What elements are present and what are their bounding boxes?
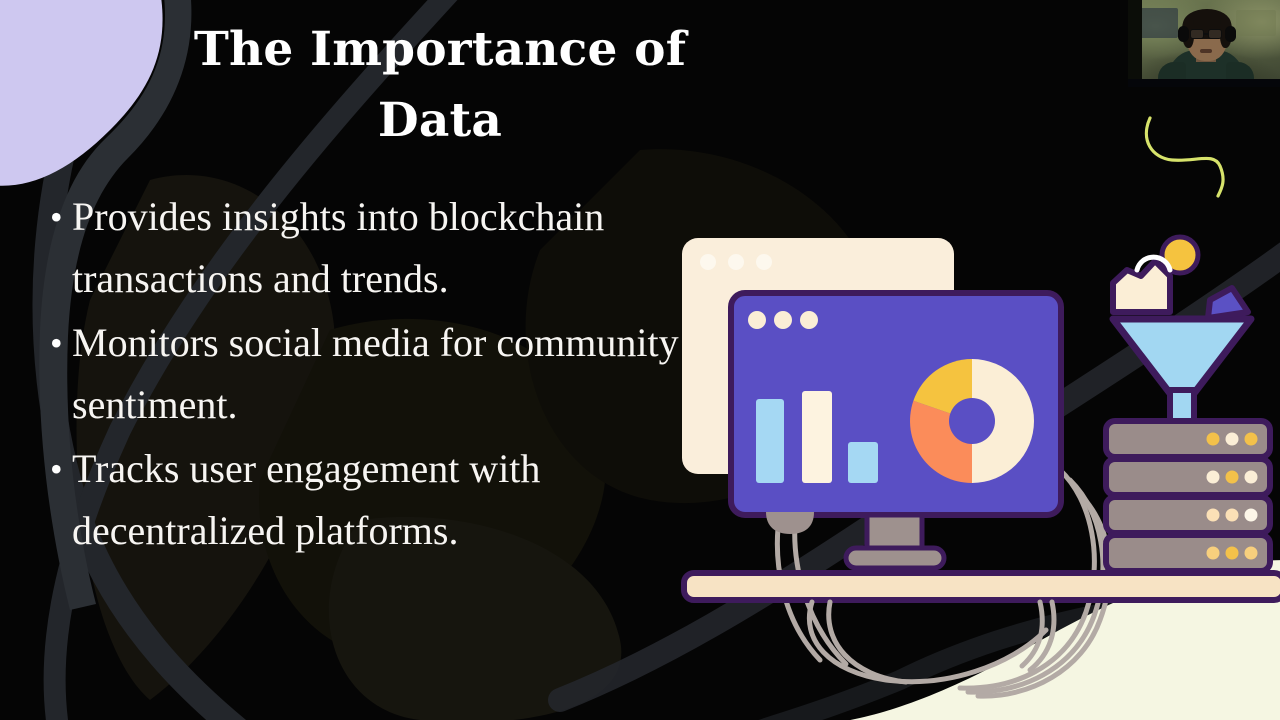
- bullet-text: Monitors social media for community sent…: [72, 312, 736, 436]
- monitor-stand: [766, 512, 944, 568]
- server-unit: [1106, 535, 1270, 571]
- title-line-1: The Importance of: [150, 14, 730, 85]
- cables-below-table: [809, 602, 1054, 682]
- cream-wave: [800, 608, 1280, 720]
- glasses-bridge-icon: [1204, 33, 1208, 35]
- bullet-marker-icon: •: [46, 438, 72, 500]
- bullet-marker-icon: •: [46, 312, 72, 374]
- webcam-bg-shelf-right: [1236, 10, 1276, 36]
- presenter-video-feed[interactable]: [1128, 0, 1280, 87]
- glasses-lens-right-icon: [1208, 29, 1222, 39]
- webcam-letterbox-left: [1128, 0, 1142, 87]
- server-unit: [1106, 421, 1270, 457]
- monitor-donut-chart: [910, 359, 1034, 483]
- squiggle-icon: [1146, 118, 1223, 196]
- bullet-text: Provides insights into blockchain transa…: [72, 186, 736, 310]
- glasses-lens-left-icon: [1190, 29, 1204, 39]
- presentation-slide: The Importance of Data • Provides insigh…: [0, 0, 1280, 720]
- title-line-2: Data: [150, 85, 730, 156]
- server-stack: [1106, 421, 1270, 571]
- funnel-icon: [1113, 319, 1251, 426]
- table-surface: [684, 573, 1280, 600]
- list-item: • Provides insights into blockchain tran…: [46, 186, 736, 310]
- server-unit: [1106, 459, 1270, 495]
- headphone-cup-left-icon: [1178, 26, 1189, 42]
- falling-data-shapes: [1113, 237, 1248, 318]
- webcam-letterbox-bottom: [1128, 79, 1280, 87]
- headphone-cup-right-icon: [1225, 26, 1236, 42]
- cream-wave-2: [790, 560, 1280, 720]
- presenter-mouth: [1200, 49, 1212, 53]
- list-item: • Tracks user engagement with decentrali…: [46, 438, 736, 562]
- bullet-marker-icon: •: [46, 186, 72, 248]
- list-item: • Monitors social media for community se…: [46, 312, 736, 436]
- monitor-bar-chart: [756, 391, 878, 483]
- bullet-list: • Provides insights into blockchain tran…: [46, 186, 736, 564]
- page-title: The Importance of Data: [150, 14, 730, 157]
- bullet-text: Tracks user engagement with decentralize…: [72, 438, 736, 562]
- monitor-screen: [731, 293, 1061, 515]
- cables: [777, 470, 1109, 696]
- server-unit: [1106, 497, 1270, 533]
- lavender-blob: [0, 0, 163, 186]
